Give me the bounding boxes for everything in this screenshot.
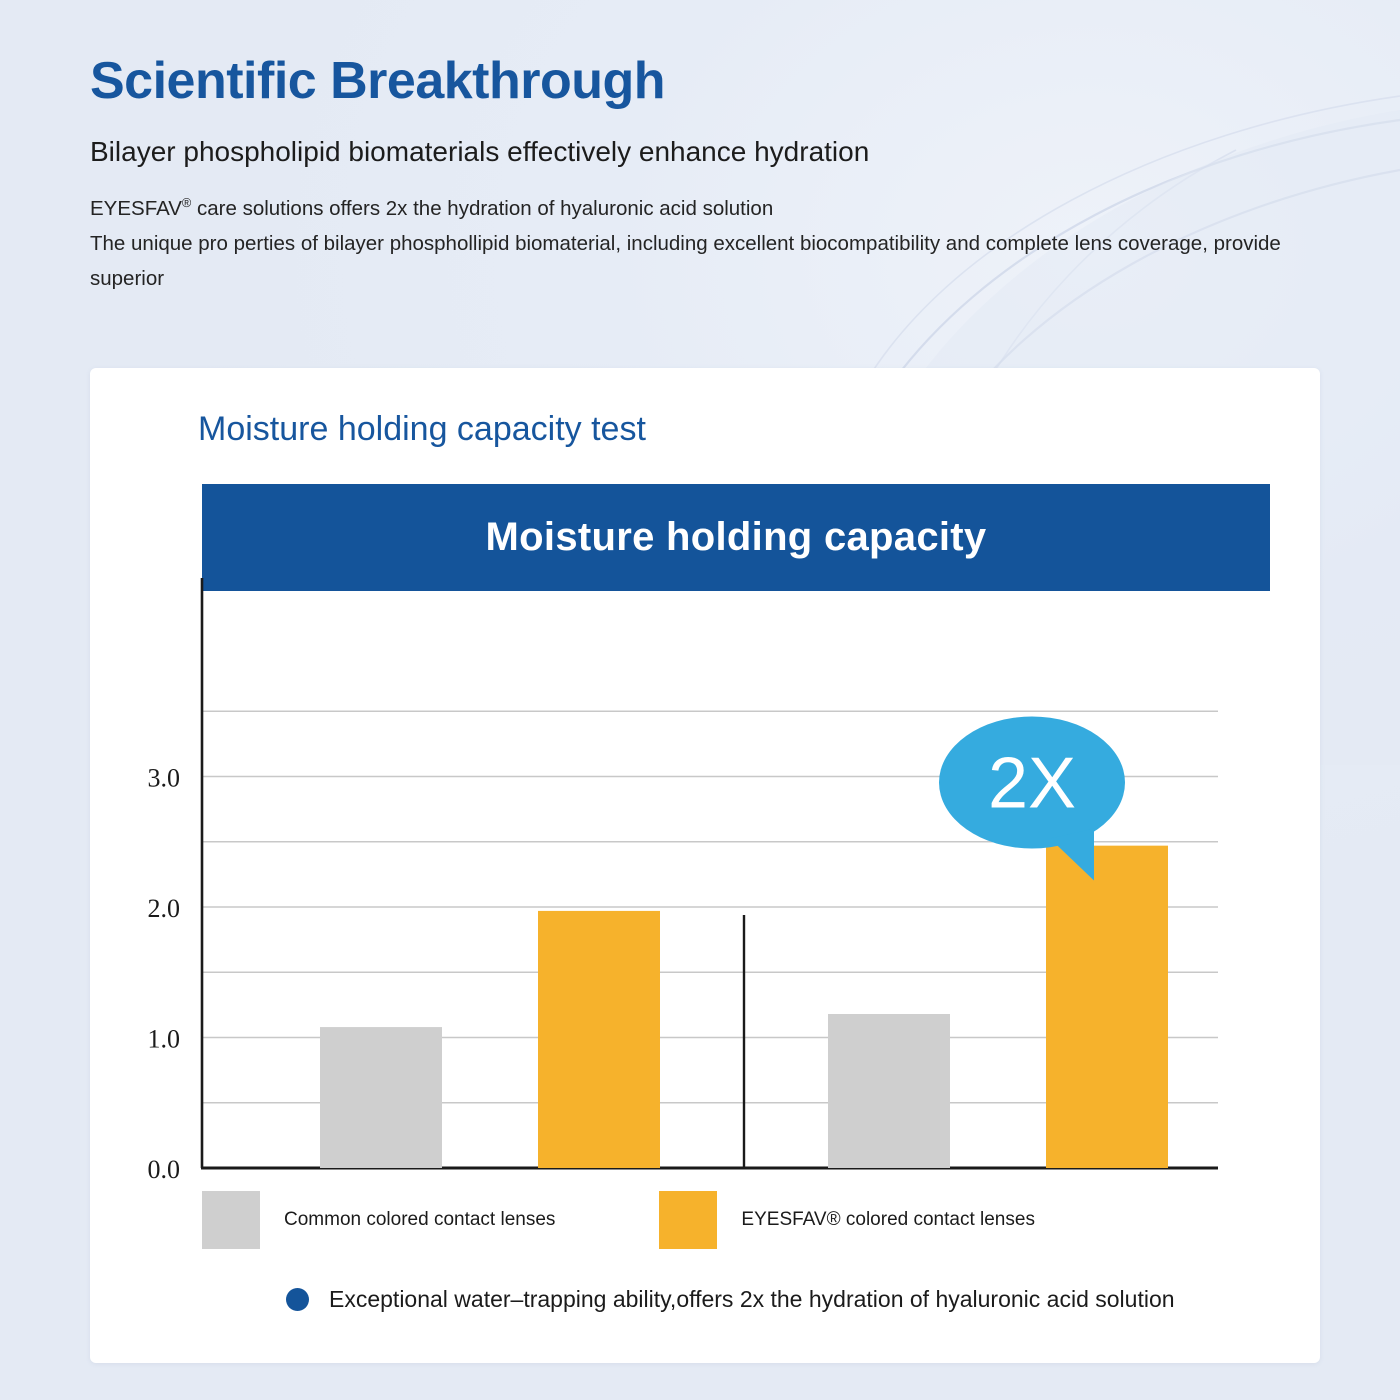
page-title: Scientific Breakthrough (90, 52, 1350, 112)
bar-common-group1 (320, 1027, 442, 1168)
intro-line-2: The unique pro perties of bilayer phosph… (90, 226, 1350, 297)
y-tick-label: 1.0 (148, 1025, 181, 1054)
chart-card: Moisture holding capacity test Moisture … (90, 368, 1320, 1363)
legend-label-eyesfav: EYESFAV® colored contact lenses (741, 1209, 1035, 1231)
bar-common-group2 (828, 1014, 950, 1168)
intro-line-1-text: care solutions offers 2x the hydration o… (191, 197, 773, 220)
legend-swatch-gray (202, 1191, 260, 1249)
bullet-icon (286, 1288, 309, 1311)
bar-eyesfav-group1 (538, 911, 660, 1168)
registered-mark-icon: ® (182, 195, 191, 210)
callout-label: 2X (988, 744, 1076, 824)
intro-paragraph: EYESFAV® care solutions offers 2x the hy… (90, 191, 1350, 297)
legend-label-common: Common colored contact lenses (284, 1209, 555, 1231)
y-tick-label: 0.0 (148, 1155, 181, 1184)
footnote-text: Exceptional water–trapping ability,offer… (329, 1286, 1175, 1313)
intro-brand-name: EYESFAV (90, 197, 182, 220)
legend-item-common: Common colored contact lenses (202, 1191, 555, 1249)
intro-line-1: EYESFAV® care solutions offers 2x the hy… (90, 191, 1350, 226)
chart-legend: Common colored contact lenses EYESFAV® c… (202, 1191, 1035, 1249)
bar-eyesfav-group2 (1046, 846, 1168, 1168)
page-header: Scientific Breakthrough Bilayer phosphol… (90, 52, 1350, 297)
page-subtitle: Bilayer phospholipid biomaterials effect… (90, 134, 1350, 169)
y-tick-label: 3.0 (148, 764, 181, 793)
legend-item-eyesfav: EYESFAV® colored contact lenses (659, 1191, 1035, 1249)
y-tick-label: 2.0 (148, 894, 181, 923)
chart-footnote: Exceptional water–trapping ability,offer… (286, 1286, 1175, 1313)
legend-swatch-orange (659, 1191, 717, 1249)
